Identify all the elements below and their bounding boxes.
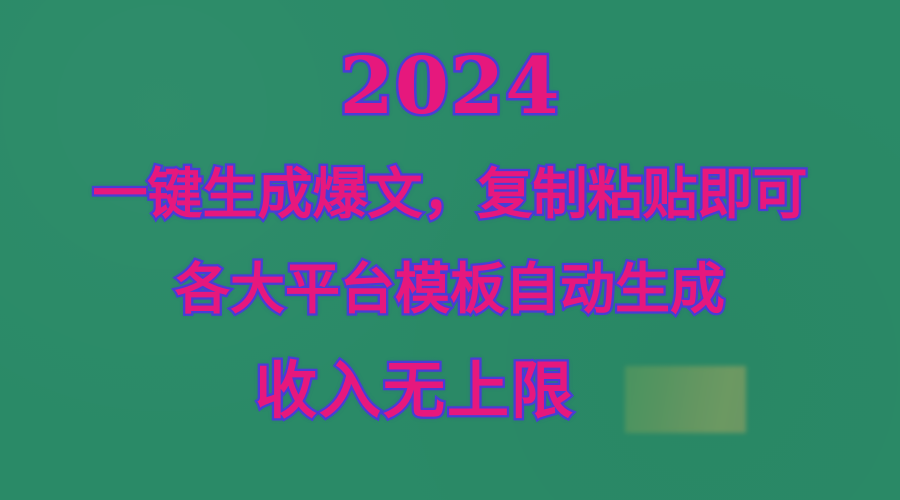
poster-text-stack: 2024 一键生成爆文，复制粘贴即可 各大平台模板自动生成 收入无上限 <box>0 0 900 500</box>
blurred-censored-region <box>625 366 746 433</box>
promo-poster: 2024 一键生成爆文，复制粘贴即可 各大平台模板自动生成 收入无上限 <box>0 0 900 500</box>
poster-feature-text: 各大平台模板自动生成 <box>0 262 900 317</box>
poster-year-text: 2024 <box>0 48 900 126</box>
poster-headline-text: 一键生成爆文，复制粘贴即可 <box>0 167 900 222</box>
